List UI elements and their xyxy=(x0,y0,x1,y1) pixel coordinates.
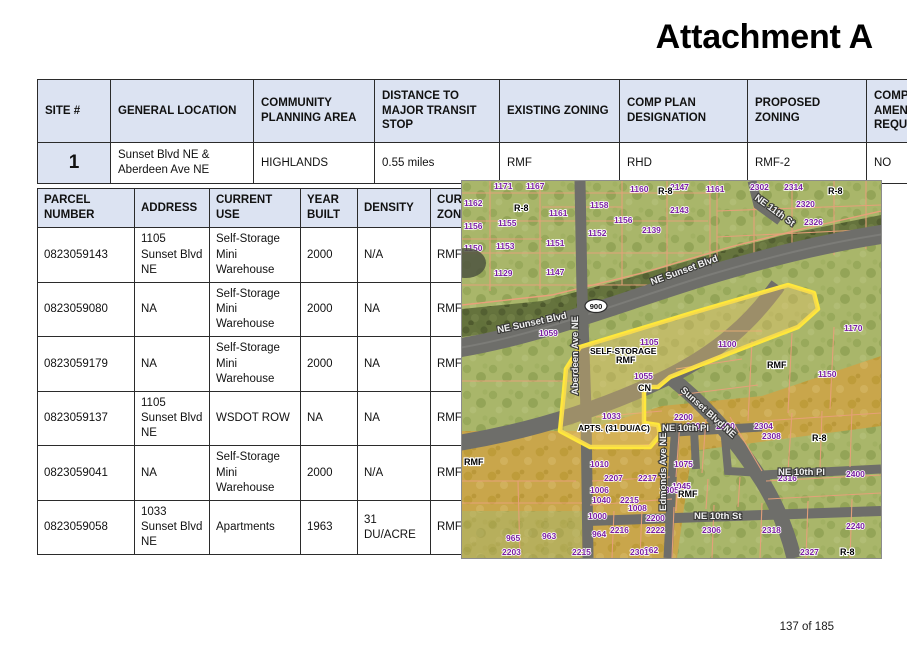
svg-text:RMF: RMF xyxy=(767,360,787,370)
svg-text:1010: 1010 xyxy=(590,459,609,469)
parcel-cell-parcel-number: 0823059179 xyxy=(38,337,135,392)
site-cell-comp-plan-amendment: NO xyxy=(867,143,907,184)
table-row: 08230591371105 Sunset Blvd NEWSDOT ROWNA… xyxy=(38,391,506,446)
site-cell-comp-plan-designation: RHD xyxy=(620,143,748,184)
parcel-cell-parcel-number: 0823059041 xyxy=(38,446,135,501)
svg-text:1151: 1151 xyxy=(546,238,565,248)
page-number-footer: 137 of 185 xyxy=(780,621,834,633)
site-header-community-planning: COMMUNITY PLANNING AREA xyxy=(254,80,375,143)
parcel-cell-parcel-number: 0823059058 xyxy=(38,500,135,555)
svg-text:1153: 1153 xyxy=(496,241,515,251)
site-header-comp-plan-amendment: COMP PLAN AMENDMENT REQUIRED xyxy=(867,80,907,143)
table-row: 0823059080NASelf-Storage Mini Warehouse2… xyxy=(38,282,506,337)
site-header-existing-zoning: EXISTING ZONING xyxy=(500,80,620,143)
svg-text:1158: 1158 xyxy=(590,200,609,210)
svg-text:1161: 1161 xyxy=(549,208,568,218)
parcel-header-current-use: CURRENT USE xyxy=(210,189,301,228)
parcel-cell-address: 1033 Sunset Blvd NE xyxy=(135,500,210,555)
parcel-cell-current-use: Self-Storage Mini Warehouse xyxy=(210,446,301,501)
table-row: 0823059179NASelf-Storage Mini Warehouse2… xyxy=(38,337,506,392)
parcel-cell-density: N/A xyxy=(358,228,431,283)
parcel-cell-parcel-number: 0823059143 xyxy=(38,228,135,283)
parcel-header-parcel-number: PARCEL NUMBER xyxy=(38,189,135,228)
parcel-cell-year-built: 2000 xyxy=(301,282,358,337)
parcel-cell-address: NA xyxy=(135,337,210,392)
svg-text:2314: 2314 xyxy=(784,182,803,192)
svg-text:RMF: RMF xyxy=(616,355,636,365)
svg-text:APTS. (31 DU/AC): APTS. (31 DU/AC) xyxy=(578,423,650,433)
svg-text:1155: 1155 xyxy=(498,218,517,228)
site-cell-site-number: 1 xyxy=(38,143,111,184)
svg-text:1156: 1156 xyxy=(464,221,483,231)
svg-text:2216: 2216 xyxy=(610,525,629,535)
parcel-cell-density: NA xyxy=(358,337,431,392)
svg-text:1161: 1161 xyxy=(706,184,725,194)
parcel-cell-density: 31 DU/ACRE xyxy=(358,500,431,555)
site-summary-table: SITE # GENERAL LOCATION COMMUNITY PLANNI… xyxy=(37,79,907,184)
svg-text:2240: 2240 xyxy=(846,521,865,531)
parcel-cell-year-built: 2000 xyxy=(301,337,358,392)
site-header-comp-plan-designation: COMP PLAN DESIGNATION xyxy=(620,80,748,143)
site-header-site-number: SITE # xyxy=(38,80,111,143)
site-cell-proposed-zoning: RMF-2 xyxy=(748,143,867,184)
svg-text:R-8: R-8 xyxy=(514,203,529,213)
svg-text:CN: CN xyxy=(638,383,651,393)
svg-text:1100: 1100 xyxy=(718,339,737,349)
svg-text:965: 965 xyxy=(506,533,520,543)
svg-text:2217: 2217 xyxy=(638,473,657,483)
svg-text:2143: 2143 xyxy=(670,205,689,215)
svg-text:964: 964 xyxy=(592,529,606,539)
svg-text:1170: 1170 xyxy=(844,323,863,333)
svg-text:RMF: RMF xyxy=(464,457,484,467)
parcel-cell-current-use: Self-Storage Mini Warehouse xyxy=(210,228,301,283)
parcel-cell-density: N/A xyxy=(358,446,431,501)
svg-text:900: 900 xyxy=(590,302,603,311)
zoning-aerial-map: 116211561150 115511531129 115111471161 1… xyxy=(461,180,882,559)
svg-text:1000: 1000 xyxy=(588,511,607,521)
svg-text:NE 10th St: NE 10th St xyxy=(694,511,742,522)
svg-text:NE 10th Pl: NE 10th Pl xyxy=(662,423,709,434)
svg-text:2147: 2147 xyxy=(670,182,689,192)
svg-text:1150: 1150 xyxy=(818,369,837,379)
svg-text:2304: 2304 xyxy=(754,421,773,431)
site-cell-existing-zoning: RMF xyxy=(500,143,620,184)
parcel-cell-current-use: Self-Storage Mini Warehouse xyxy=(210,337,301,392)
svg-text:2308: 2308 xyxy=(762,431,781,441)
parcel-header-address: ADDRESS xyxy=(135,189,210,228)
site-cell-general-location: Sunset Blvd NE & Aberdeen Ave NE xyxy=(111,143,254,184)
svg-text:2301: 2301 xyxy=(630,547,649,557)
svg-text:1152: 1152 xyxy=(588,228,607,238)
svg-text:1171: 1171 xyxy=(494,181,513,191)
parcel-cell-address: 1105 Sunset Blvd NE xyxy=(135,391,210,446)
page-title: Attachment A xyxy=(656,18,873,57)
parcel-cell-address: NA xyxy=(135,282,210,337)
svg-text:1167: 1167 xyxy=(526,181,545,191)
parcel-cell-address: 1105 Sunset Blvd NE xyxy=(135,228,210,283)
parcel-cell-density: NA xyxy=(358,391,431,446)
table-row: 0823059041NASelf-Storage Mini Warehouse2… xyxy=(38,446,506,501)
parcel-cell-density: NA xyxy=(358,282,431,337)
site-table-header-row: SITE # GENERAL LOCATION COMMUNITY PLANNI… xyxy=(38,80,907,143)
parcel-cell-current-use: Apartments xyxy=(210,500,301,555)
svg-text:2318: 2318 xyxy=(762,525,781,535)
map-green-strip-southwest xyxy=(462,511,582,558)
site-header-general-location: GENERAL LOCATION xyxy=(111,80,254,143)
svg-text:2306: 2306 xyxy=(702,525,721,535)
svg-text:NE 10th Pl: NE 10th Pl xyxy=(778,467,825,478)
svg-text:1075: 1075 xyxy=(674,459,693,469)
site-cell-transit-distance: 0.55 miles xyxy=(375,143,500,184)
svg-text:1156: 1156 xyxy=(614,215,633,225)
parcel-table-header-row: PARCEL NUMBER ADDRESS CURRENT USE YEAR B… xyxy=(38,189,506,228)
parcel-cell-address: NA xyxy=(135,446,210,501)
table-row: 1 Sunset Blvd NE & Aberdeen Ave NE HIGHL… xyxy=(38,143,907,184)
svg-text:2327: 2327 xyxy=(800,547,819,557)
svg-text:1147: 1147 xyxy=(546,267,565,277)
svg-text:1033: 1033 xyxy=(602,411,621,421)
table-row: 08230590581033 Sunset Blvd NEApartments1… xyxy=(38,500,506,555)
svg-text:1055: 1055 xyxy=(634,371,653,381)
svg-text:R-8: R-8 xyxy=(840,547,855,557)
svg-text:1059: 1059 xyxy=(539,328,558,338)
site-header-transit-distance: DISTANCE TO MAJOR TRANSIT STOP xyxy=(375,80,500,143)
svg-text:2320: 2320 xyxy=(796,199,815,209)
svg-text:RMF: RMF xyxy=(678,489,698,499)
svg-text:1008: 1008 xyxy=(628,503,647,513)
svg-text:1006: 1006 xyxy=(590,485,609,495)
svg-text:1040: 1040 xyxy=(592,495,611,505)
svg-text:2207: 2207 xyxy=(604,473,623,483)
svg-text:1160: 1160 xyxy=(630,184,649,194)
parcel-header-density: DENSITY xyxy=(358,189,431,228)
parcel-cell-current-use: Self-Storage Mini Warehouse xyxy=(210,282,301,337)
svg-text:R-8: R-8 xyxy=(812,433,827,443)
parcel-cell-parcel-number: 0823059137 xyxy=(38,391,135,446)
parcel-cell-year-built: 2000 xyxy=(301,228,358,283)
svg-text:2302: 2302 xyxy=(750,182,769,192)
parcel-cell-year-built: NA xyxy=(301,391,358,446)
svg-text:2139: 2139 xyxy=(642,225,661,235)
parcel-cell-year-built: 1963 xyxy=(301,500,358,555)
route-shield-900: 900 xyxy=(585,300,607,313)
parcel-cell-current-use: WSDOT ROW xyxy=(210,391,301,446)
svg-text:1162: 1162 xyxy=(464,198,483,208)
table-row: 08230591431105 Sunset Blvd NESelf-Storag… xyxy=(38,228,506,283)
svg-text:2203: 2203 xyxy=(502,547,521,557)
svg-text:963: 963 xyxy=(542,531,556,541)
svg-text:R-8: R-8 xyxy=(828,186,843,196)
site-cell-community-planning: HIGHLANDS xyxy=(254,143,375,184)
svg-text:2200: 2200 xyxy=(646,513,665,523)
svg-text:2215: 2215 xyxy=(572,547,591,557)
svg-text:1129: 1129 xyxy=(494,268,513,278)
svg-text:R-8: R-8 xyxy=(658,186,673,196)
parcel-header-year-built: YEAR BUILT xyxy=(301,189,358,228)
parcel-detail-table: PARCEL NUMBER ADDRESS CURRENT USE YEAR B… xyxy=(37,188,506,555)
svg-text:Aberdeen Ave NE: Aberdeen Ave NE xyxy=(570,316,581,395)
parcel-cell-year-built: 2000 xyxy=(301,446,358,501)
map-canvas: 116211561150 115511531129 115111471161 1… xyxy=(462,181,881,558)
svg-text:Edmonds Ave NE: Edmonds Ave NE xyxy=(658,433,669,511)
site-header-proposed-zoning: PROPOSED ZONING xyxy=(748,80,867,143)
svg-text:2222: 2222 xyxy=(646,525,665,535)
svg-text:2400: 2400 xyxy=(846,469,865,479)
svg-text:2326: 2326 xyxy=(804,217,823,227)
svg-text:SELF-STORAGE: SELF-STORAGE xyxy=(590,346,657,356)
parcel-cell-parcel-number: 0823059080 xyxy=(38,282,135,337)
